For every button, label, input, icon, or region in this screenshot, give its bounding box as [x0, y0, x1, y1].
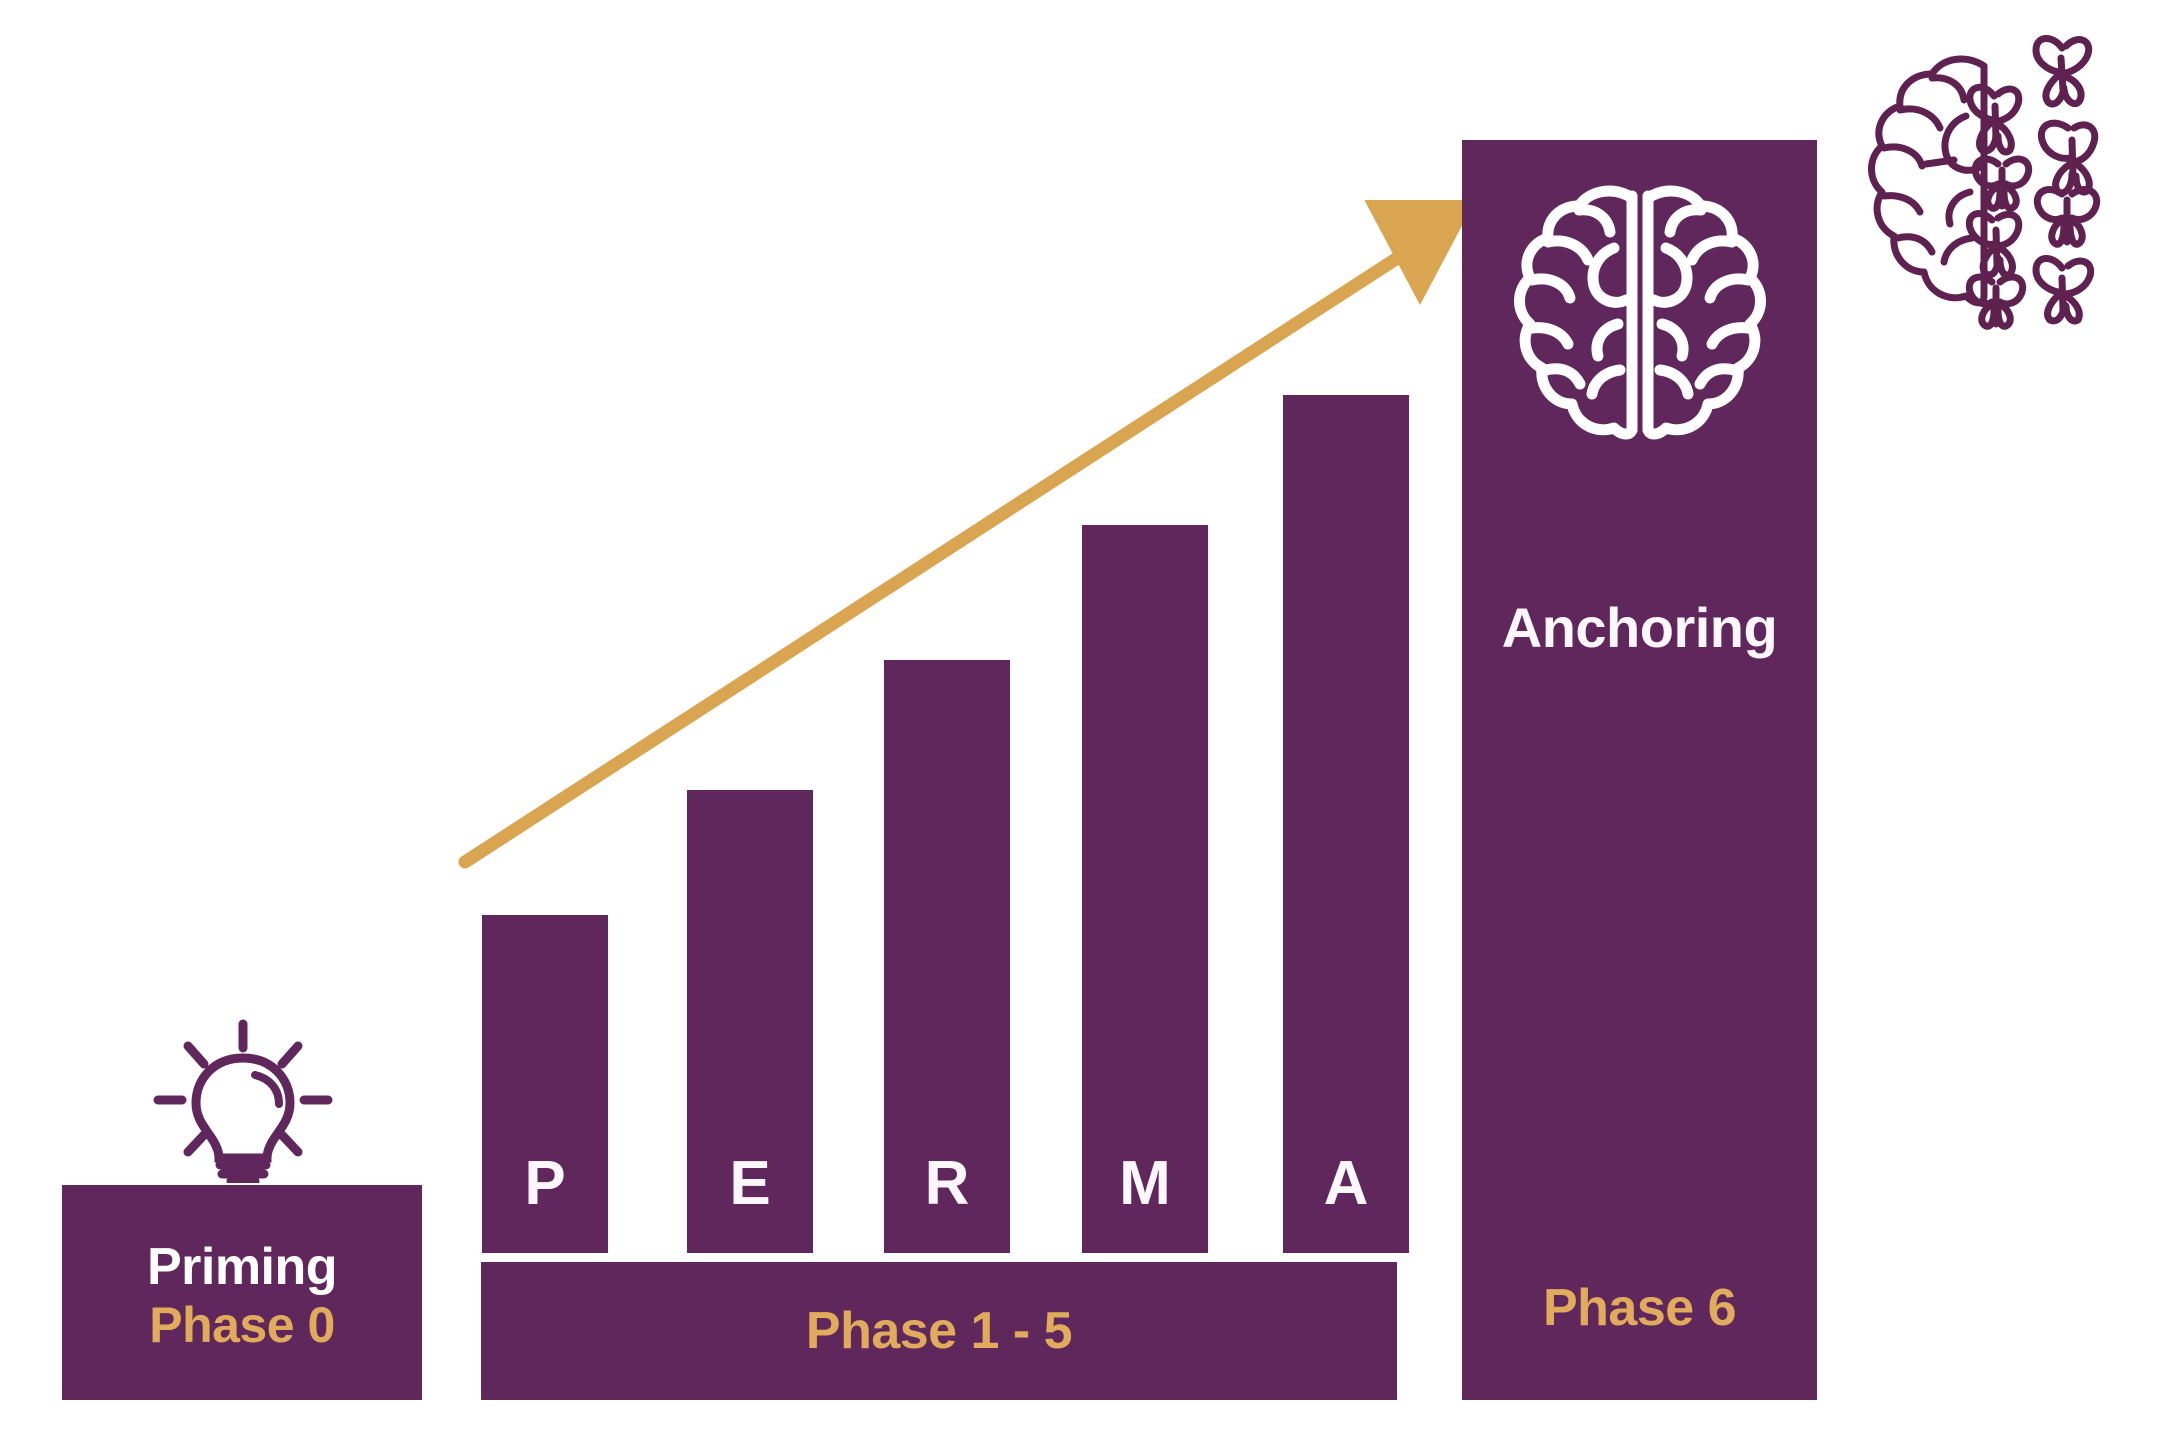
anchoring-phase-label: Phase 6 — [1462, 1278, 1817, 1338]
priming-phase-label: Phase 0 — [149, 1297, 335, 1353]
brain-icon — [1510, 180, 1770, 445]
perma-letter-a: A — [1324, 1153, 1369, 1215]
lightbulb-icon — [148, 1018, 338, 1183]
perma-bar-p[interactable]: P — [482, 915, 608, 1253]
priming-phase-block[interactable]: Priming Phase 0 — [62, 1185, 422, 1400]
brain-butterflies-icon — [1866, 24, 2136, 334]
anchoring-phase-block[interactable]: Anchoring Phase 6 — [1462, 140, 1817, 1400]
priming-title: Priming — [147, 1240, 337, 1295]
perma-letter-r: R — [925, 1153, 970, 1215]
phase-1-5-label: Phase 1 - 5 — [806, 1301, 1072, 1361]
perma-bar-m[interactable]: M — [1082, 525, 1208, 1253]
infographic-canvas: Priming Phase 0 P E R M A Phase 1 - 5 — [0, 0, 2164, 1440]
phase-1-5-base-block[interactable]: Phase 1 - 5 — [481, 1262, 1397, 1400]
perma-letter-m: M — [1119, 1153, 1171, 1215]
perma-bar-a[interactable]: A — [1283, 395, 1409, 1253]
perma-bar-r[interactable]: R — [884, 660, 1010, 1253]
anchoring-title: Anchoring — [1462, 595, 1817, 660]
perma-letter-p: P — [524, 1153, 565, 1215]
perma-bar-e[interactable]: E — [687, 790, 813, 1253]
perma-letter-e: E — [729, 1153, 770, 1215]
